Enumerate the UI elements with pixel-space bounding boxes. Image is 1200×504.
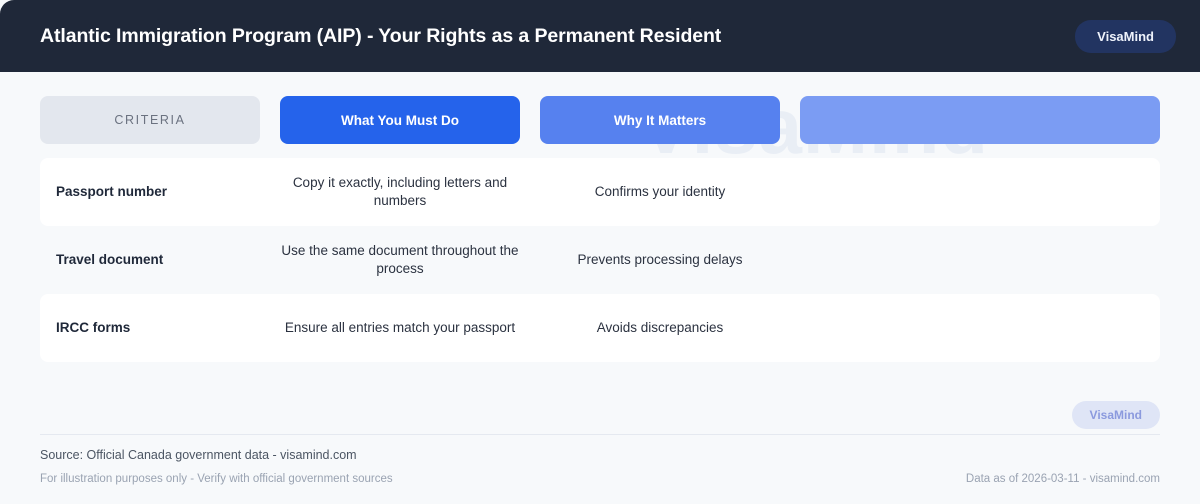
page-title: Atlantic Immigration Program (AIP) - You…	[40, 25, 721, 48]
infographic-page: VisaMind Atlantic Immigration Program (A…	[0, 0, 1200, 504]
footer-divider	[40, 434, 1160, 435]
cell-extra	[800, 294, 1160, 362]
cell-criteria: Travel document	[40, 226, 260, 294]
table-column-headers: CRITERIA What You Must Do Why It Matters	[40, 96, 1160, 144]
table-row: Travel document Use the same document th…	[40, 226, 1160, 294]
disclaimer-text: For illustration purposes only - Verify …	[40, 473, 393, 485]
column-header-what-you-must-do: What You Must Do	[280, 96, 520, 144]
cell-criteria: Passport number	[40, 158, 260, 226]
cell-what-you-must-do: Use the same document throughout the pro…	[280, 226, 520, 294]
cell-extra	[800, 226, 1160, 294]
cell-why-it-matters: Avoids discrepancies	[540, 294, 780, 362]
cell-what-you-must-do: Copy it exactly, including letters and n…	[280, 158, 520, 226]
footer-brand-wrap: VisaMind	[40, 400, 1160, 430]
table-row: Passport number Copy it exactly, includi…	[40, 158, 1160, 226]
table-rows: Passport number Copy it exactly, includi…	[40, 158, 1160, 362]
comparison-table: CRITERIA What You Must Do Why It Matters…	[40, 96, 1160, 362]
cell-what-you-must-do: Ensure all entries match your passport	[280, 294, 520, 362]
brand-badge: VisaMind	[1075, 20, 1176, 53]
column-header-criteria: CRITERIA	[40, 96, 260, 144]
column-header-why-it-matters: Why It Matters	[540, 96, 780, 144]
data-as-of-text: Data as of 2026-03-11 - visamind.com	[966, 473, 1160, 485]
footer-brand-badge: VisaMind	[1072, 401, 1160, 429]
cell-why-it-matters: Confirms your identity	[540, 158, 780, 226]
table-row: IRCC forms Ensure all entries match your…	[40, 294, 1160, 362]
page-header: Atlantic Immigration Program (AIP) - You…	[0, 0, 1200, 72]
cell-extra	[800, 158, 1160, 226]
source-text: Source: Official Canada government data …	[40, 448, 357, 462]
cell-why-it-matters: Prevents processing delays	[540, 226, 780, 294]
column-header-extra	[800, 96, 1160, 144]
cell-criteria: IRCC forms	[40, 294, 260, 362]
